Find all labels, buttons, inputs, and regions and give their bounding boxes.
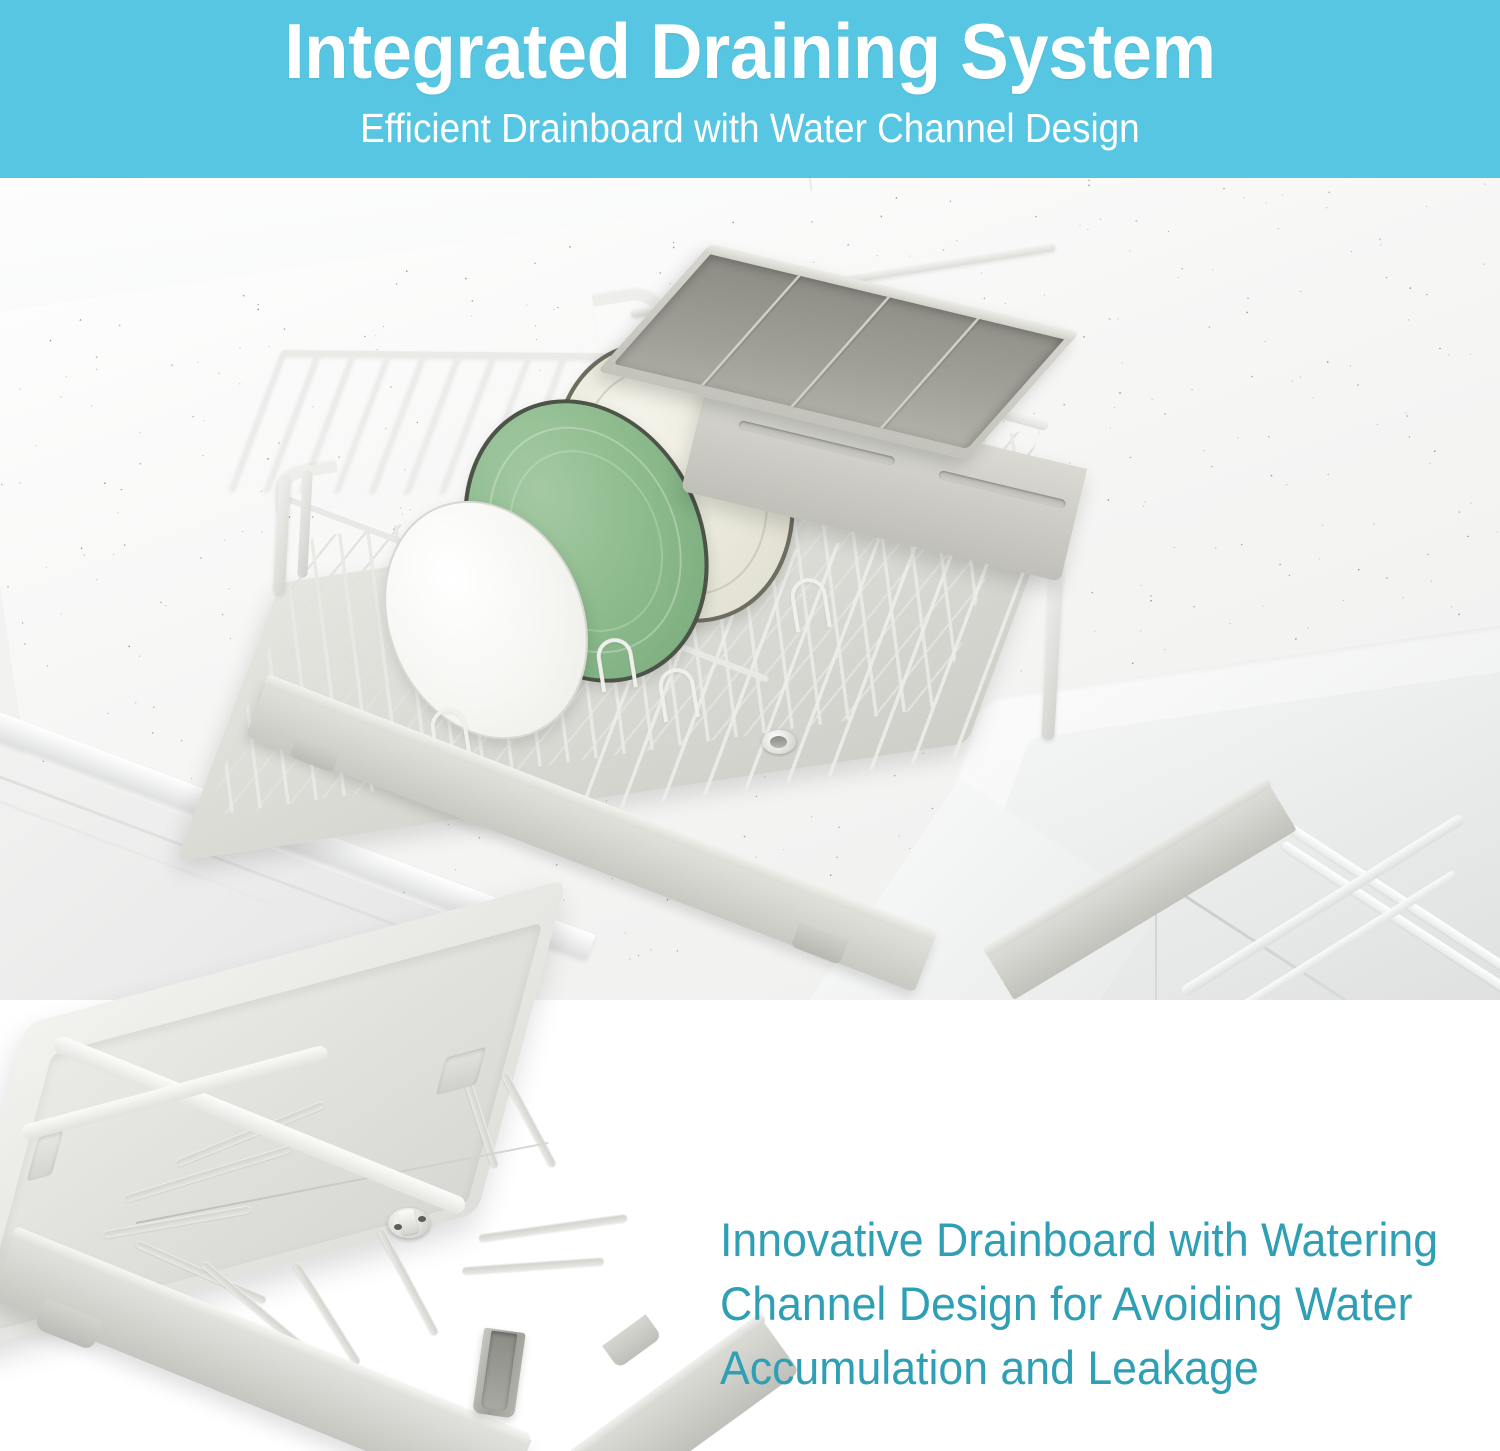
drainboard-product <box>10 1010 690 1440</box>
water-channel <box>478 1214 628 1243</box>
water-channel <box>376 1227 439 1337</box>
water-channel <box>462 1257 604 1275</box>
drain-hole <box>418 1216 426 1222</box>
water-channel <box>501 1071 558 1168</box>
banner-title: Integrated Draining System <box>53 6 1448 96</box>
bottom-section: Innovative Drainboard with Watering Chan… <box>0 1000 1500 1451</box>
banner-subtitle: Efficient Drainboard with Water Channel … <box>75 103 1425 153</box>
product-feature-image: Integrated Draining System Efficient Dra… <box>0 0 1500 1451</box>
dish-drying-rack <box>240 238 1170 958</box>
drainboard-foot <box>602 1314 662 1368</box>
rack-drain-hole <box>770 736 787 748</box>
feature-caption: Innovative Drainboard with Watering Chan… <box>720 1208 1452 1400</box>
rack-corner-post <box>1041 560 1063 740</box>
drain-hole <box>394 1224 402 1230</box>
header-banner: Integrated Draining System Efficient Dra… <box>0 0 1500 178</box>
